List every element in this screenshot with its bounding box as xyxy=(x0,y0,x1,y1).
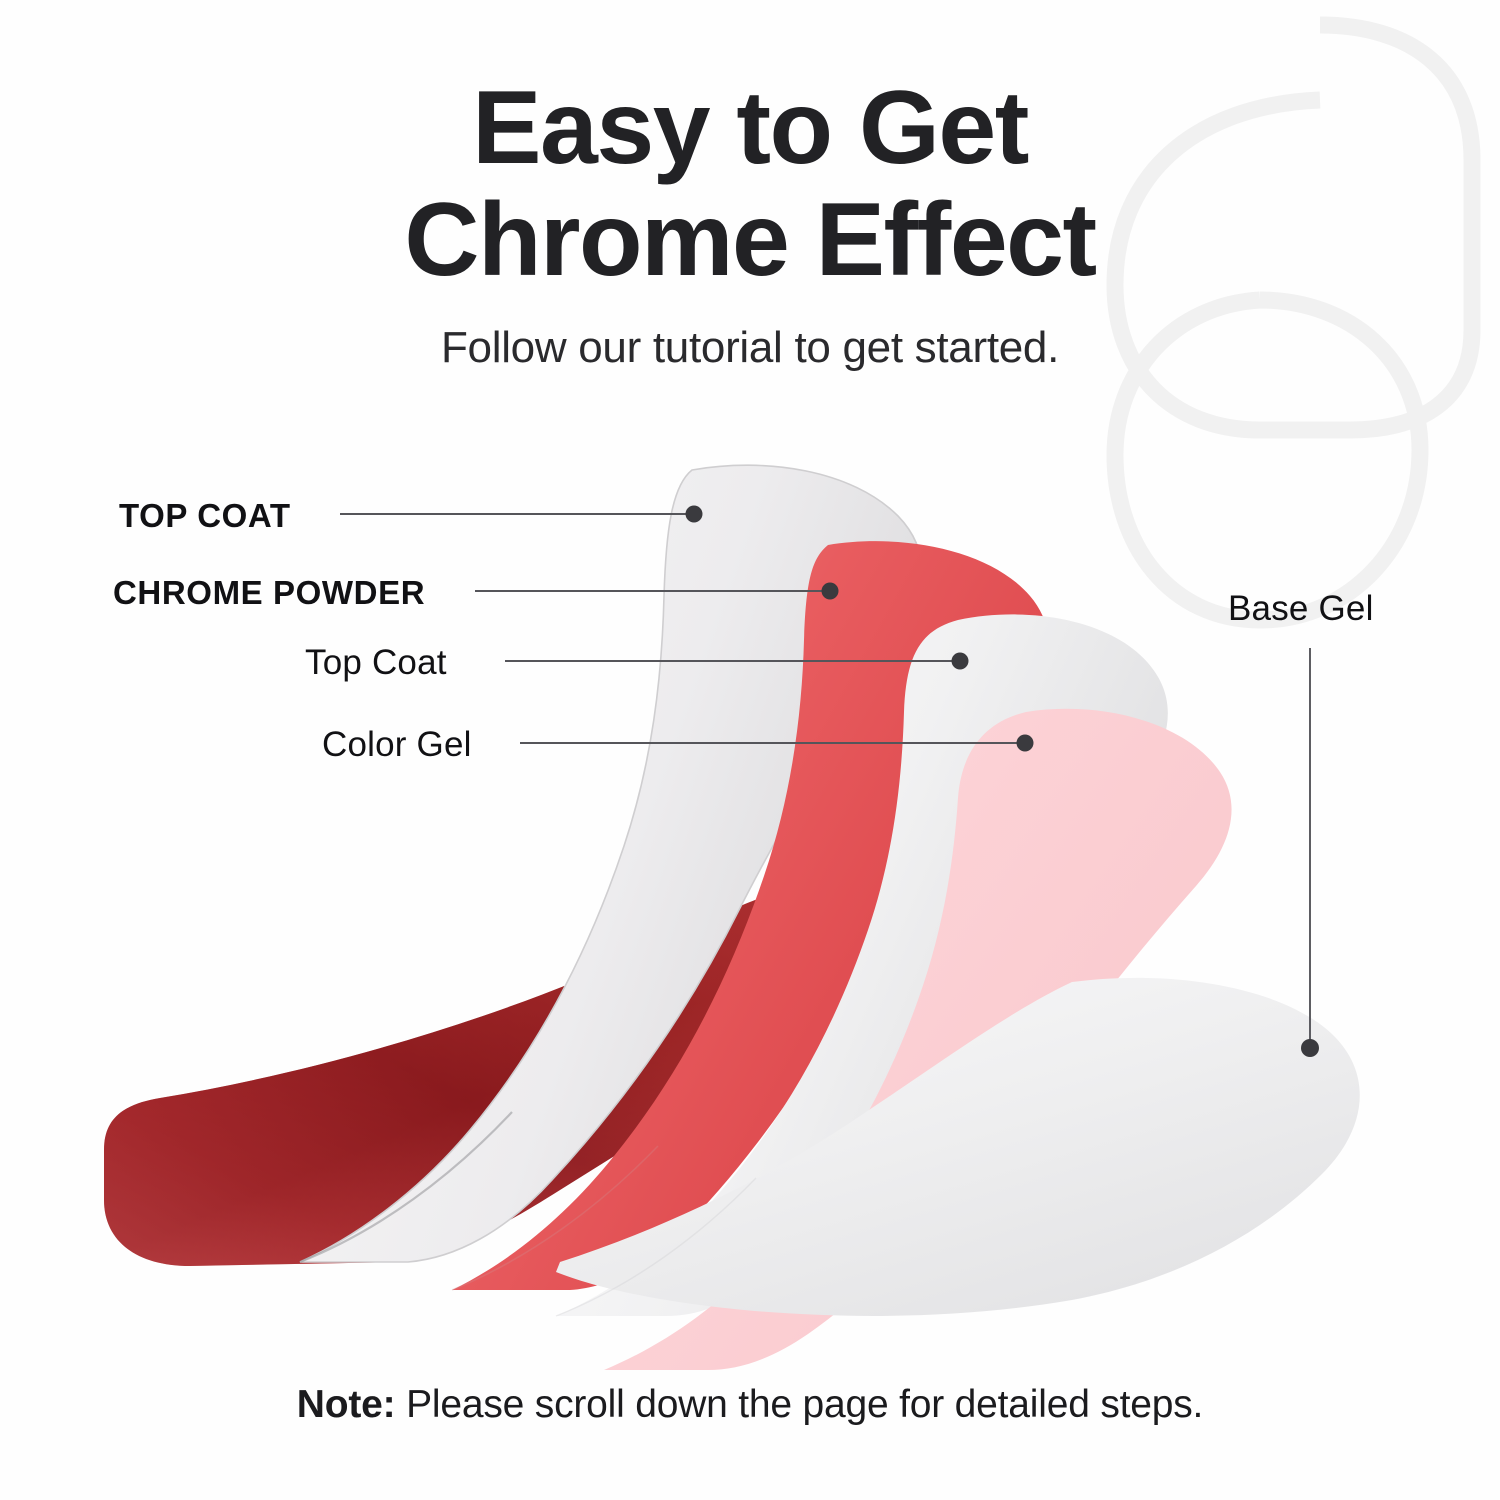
nail-layer-diagram: TOP COAT CHROME POWDER Top Coat Color Ge… xyxy=(0,0,1500,1500)
callout-dot-chrome-powder xyxy=(822,583,839,600)
callout-dot-color-gel xyxy=(1017,735,1034,752)
nail-layers-svg xyxy=(0,0,1500,1500)
chrome-effect-infographic: Easy to Get Chrome Effect Follow our tut… xyxy=(0,0,1500,1500)
callout-dot-base-gel xyxy=(1301,1039,1319,1057)
callout-label-color-gel: Color Gel xyxy=(322,727,472,762)
footer-note: Note: Please scroll down the page for de… xyxy=(0,1382,1500,1428)
callout-label-top-coat-first: Top Coat xyxy=(305,645,447,680)
footer-note-prefix: Note: xyxy=(297,1383,396,1426)
footer-note-text: Please scroll down the page for detailed… xyxy=(395,1383,1203,1426)
callout-label-chrome-powder: CHROME POWDER xyxy=(113,576,425,609)
callout-label-top-coat-final: TOP COAT xyxy=(119,499,291,532)
callout-label-base-gel: Base Gel xyxy=(1228,591,1374,626)
callout-dot-top-coat-first xyxy=(952,653,969,670)
callout-dot-top-coat-final xyxy=(686,506,703,523)
